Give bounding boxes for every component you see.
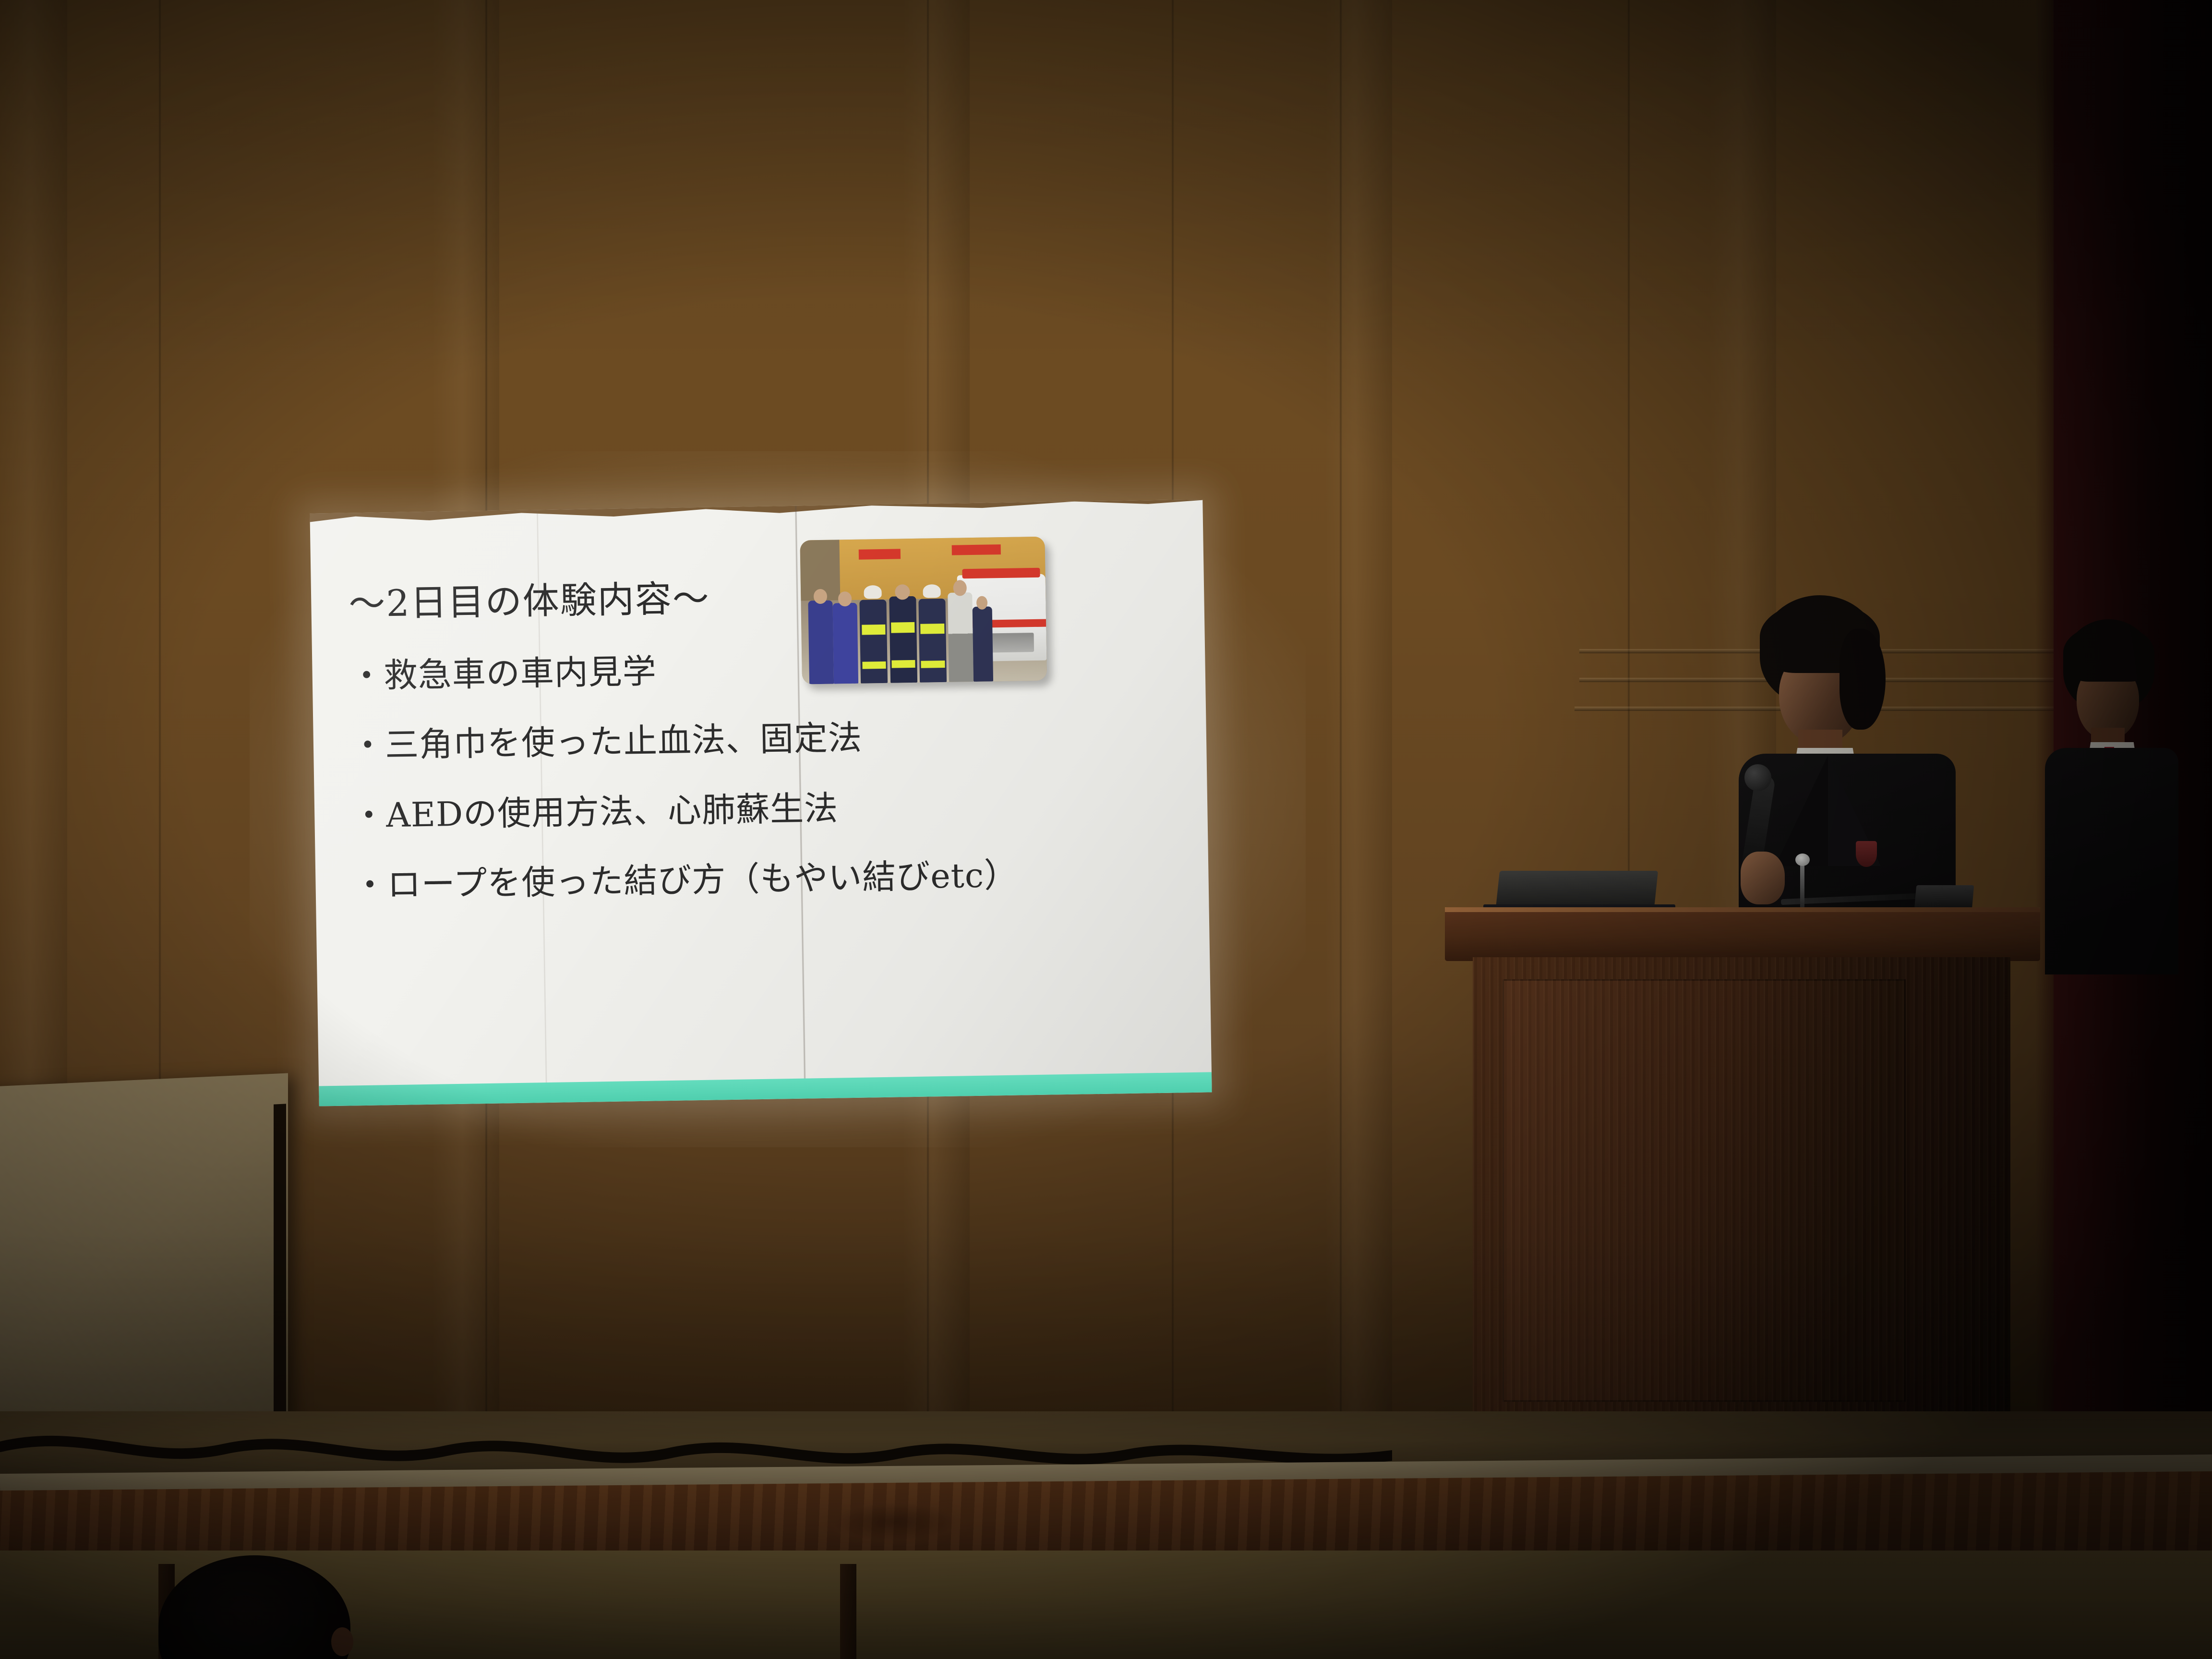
photo-person-3 xyxy=(860,600,888,684)
photo-person-2 xyxy=(833,603,859,684)
photo-hiviz-band xyxy=(862,661,886,669)
photo-ambulance-lightbar xyxy=(962,568,1040,578)
photo-person-6 xyxy=(948,592,974,682)
podium-microphone-capsule[interactable] xyxy=(1795,854,1810,866)
podium-microphone-stand xyxy=(1800,861,1804,908)
slide-photo-ambulance-group xyxy=(800,537,1047,685)
photo-hiviz-band xyxy=(862,625,886,635)
photo-person-helmet xyxy=(923,584,940,598)
podium-tablet-device[interactable] xyxy=(1914,885,1974,910)
photo-hiviz-band xyxy=(891,660,915,668)
presenter-hair-side xyxy=(1839,629,1886,730)
presentation-scene: ～2日目の体験内容～ ・救急車の車内見学 ・三角巾を使った止血法、固定法 ・AE… xyxy=(0,0,2212,1659)
photo-red-sign-right xyxy=(952,544,1001,555)
handheld-microphone-head xyxy=(1744,764,1771,791)
stage-support-leg xyxy=(840,1564,856,1659)
audience-member-ear xyxy=(331,1627,353,1656)
photo-hiviz-band xyxy=(891,622,915,633)
leaning-board-panel xyxy=(0,1073,288,1432)
photo-person-1 xyxy=(808,601,834,685)
laptop-screen[interactable] xyxy=(1496,871,1658,908)
photo-person-helmet xyxy=(864,585,882,599)
photo-hiviz-band xyxy=(921,661,945,668)
podium-top-highlight xyxy=(1445,907,2040,912)
photo-person-head xyxy=(976,596,987,610)
podium-front-panel xyxy=(1503,979,1906,1402)
projected-slide: ～2日目の体験内容～ ・救急車の車内見学 ・三角巾を使った止血法、固定法 ・AE… xyxy=(310,499,1212,1106)
podium-top-ledge xyxy=(1445,907,2040,961)
photo-hiviz-band xyxy=(920,624,944,634)
photo-red-sign-left xyxy=(859,549,901,559)
stage-wood-knot xyxy=(816,1497,975,1547)
photo-person-head xyxy=(953,580,967,596)
podium-lectern xyxy=(1445,907,2069,1493)
presenter-school-emblem xyxy=(1856,841,1877,867)
photo-person-7 xyxy=(973,606,993,682)
photo-person-head xyxy=(895,584,910,600)
photo-person-head xyxy=(814,589,828,604)
presenter-hand-shading xyxy=(1741,852,1785,904)
photo-person-head xyxy=(838,591,852,606)
leaning-board-edge xyxy=(274,1104,286,1435)
photo-person-4 xyxy=(889,596,917,683)
photo-person-5 xyxy=(918,599,947,683)
podium-panel-grain xyxy=(1503,979,1906,1402)
second-student-fringe xyxy=(2063,624,2154,682)
